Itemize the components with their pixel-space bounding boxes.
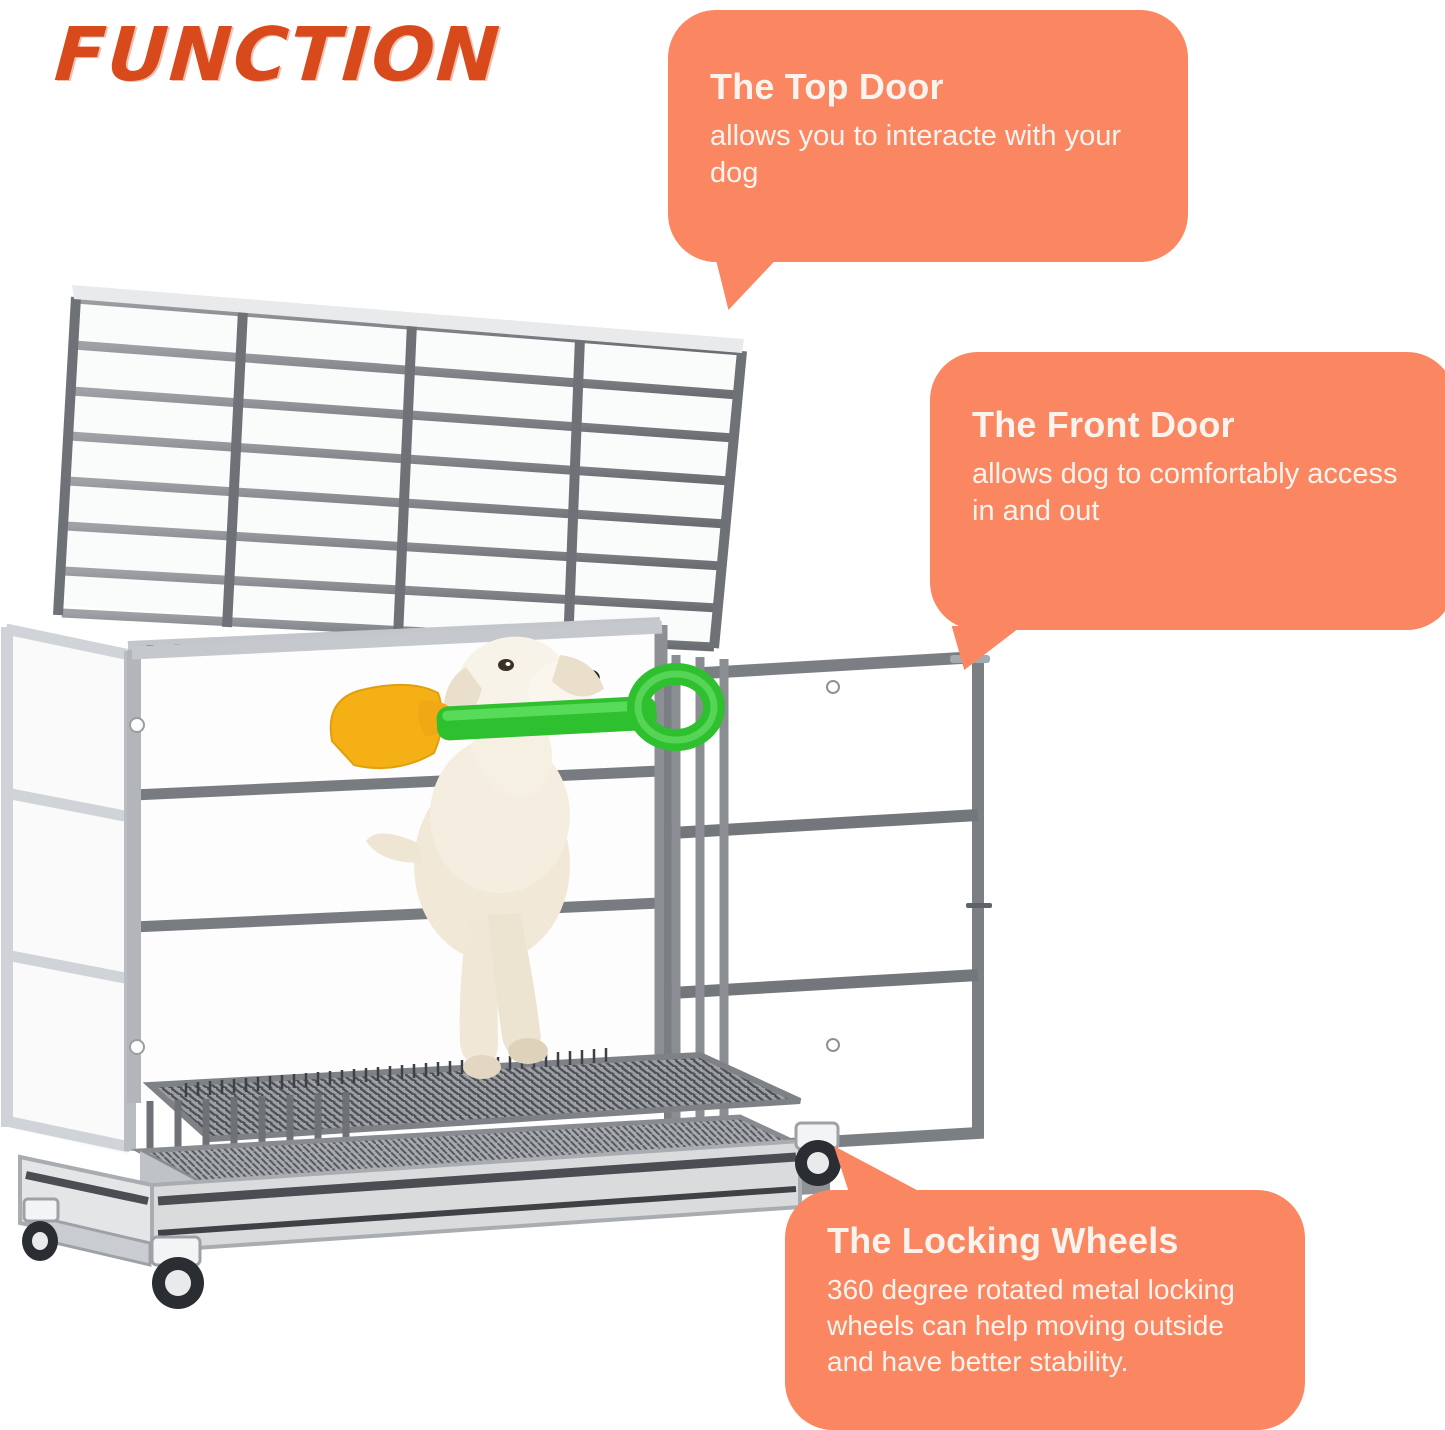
cage-left-panel <box>6 627 130 1155</box>
caster-wheel-back-left <box>22 1199 58 1261</box>
callout-locking-wheels-title: The Locking Wheels <box>827 1220 1275 1262</box>
callout-top-door: The Top Door allows you to interacte wit… <box>668 10 1188 262</box>
infographic-page: FUNCTION <box>0 0 1445 1430</box>
callout-locking-wheels-tail <box>834 1146 928 1196</box>
callout-locking-wheels: The Locking Wheels 360 degree rotated me… <box>785 1190 1305 1430</box>
callout-top-door-title: The Top Door <box>710 66 1158 108</box>
callout-front-door-tail <box>952 626 1035 670</box>
callout-top-door-tail <box>716 258 791 310</box>
caster-wheel-front-left <box>152 1237 204 1309</box>
page-title: FUNCTION <box>52 18 503 92</box>
callout-locking-wheels-body: 360 degree rotated metal locking wheels … <box>827 1272 1275 1379</box>
top-door-panel <box>52 285 744 648</box>
callout-front-door-title: The Front Door <box>972 404 1425 446</box>
callout-top-door-body: allows you to interacte with your dog <box>710 118 1158 192</box>
callout-front-door-body: allows dog to comfortably access in and … <box>972 456 1425 530</box>
callout-front-door: The Front Door allows dog to comfortably… <box>930 352 1445 630</box>
caster-wheel-front-right <box>795 1123 841 1186</box>
